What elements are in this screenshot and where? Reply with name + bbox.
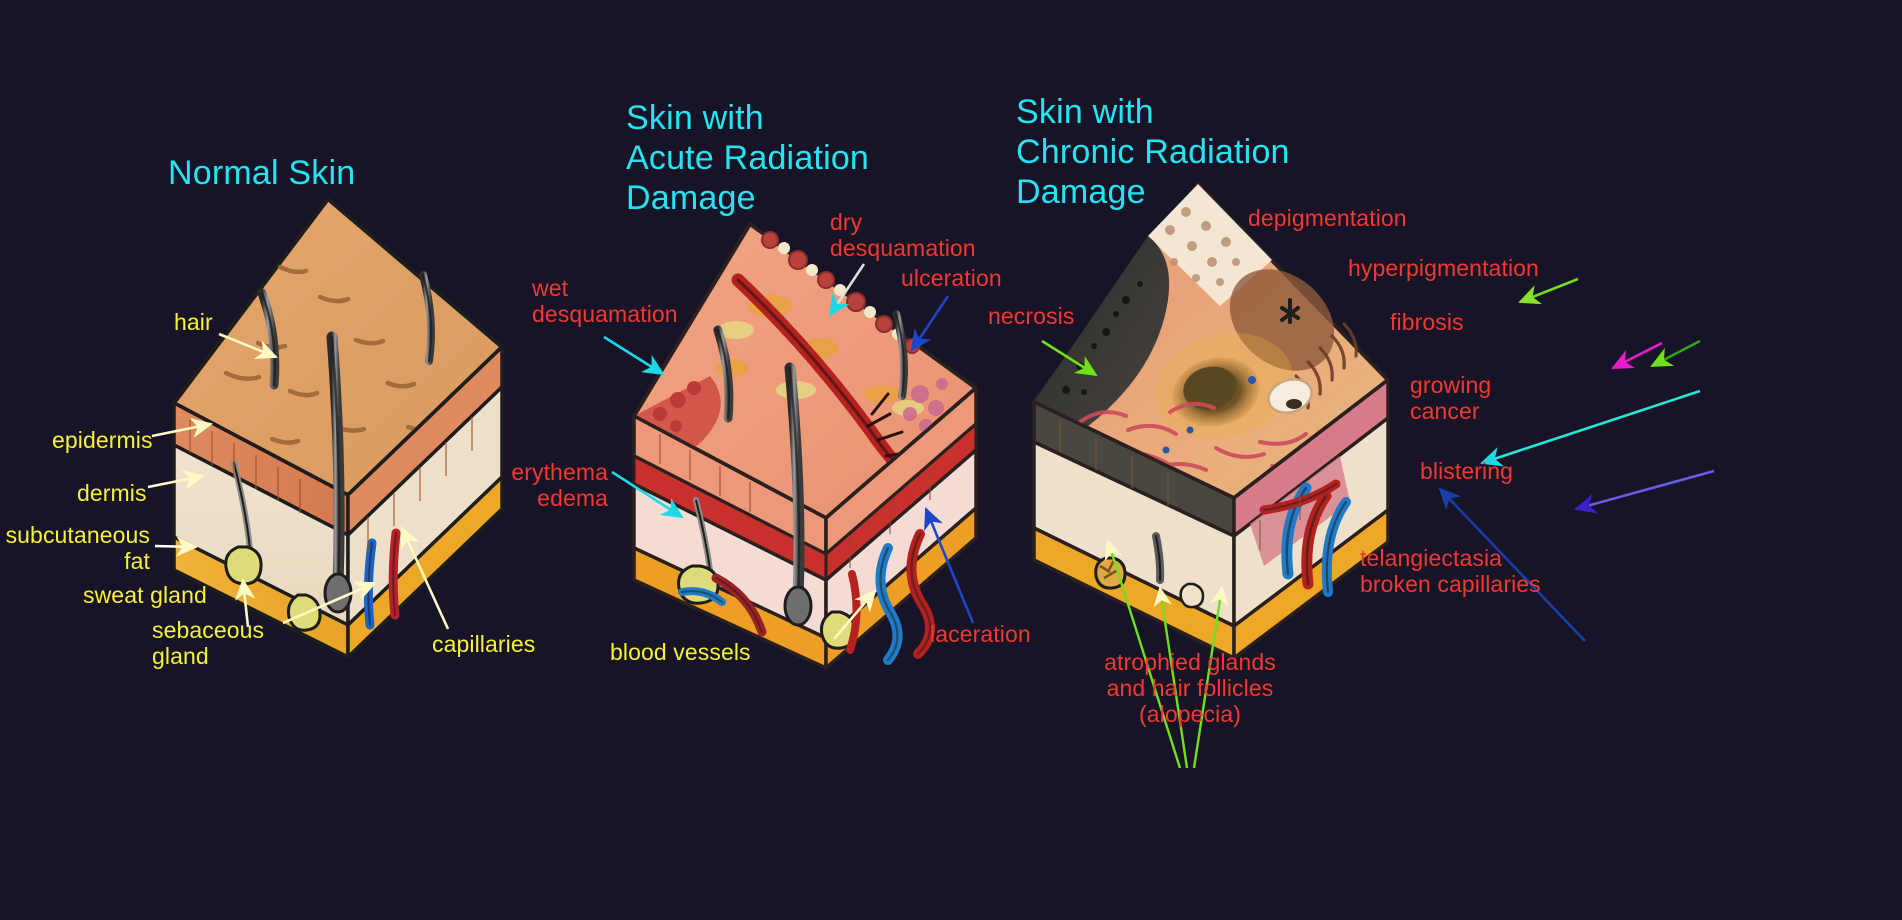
label-sebaceous-gland: sebaceous gland <box>152 618 264 670</box>
label-erythema-edema: erythema edema <box>470 460 608 512</box>
arrow-depigmentation <box>1520 279 1578 302</box>
arrow-blistering <box>1576 471 1714 509</box>
label-sweat-gland: sweat gland <box>83 583 207 609</box>
arrow-growing-cancer <box>1482 391 1700 463</box>
label-growing-cancer: growing cancer <box>1410 373 1491 425</box>
label-wet-desquamation: wet desquamation <box>532 276 678 328</box>
arrow-hyperpigmentation <box>1613 343 1662 368</box>
label-dry-desquamation: dry desquamation <box>830 210 976 262</box>
arrow-fibrosis <box>1652 341 1700 366</box>
label-epidermis: epidermis <box>52 428 153 454</box>
label-laceration: laceration <box>930 622 1031 648</box>
label-necrosis: necrosis <box>988 304 1074 330</box>
label-hyperpigmentation: hyperpigmentation <box>1348 256 1539 282</box>
panel-title-acute: Skin with Acute Radiation Damage <box>626 98 869 218</box>
label-dermis: dermis <box>77 481 147 507</box>
panel-title-chronic: Skin with Chronic Radiation Damage <box>1016 92 1290 212</box>
label-hair: hair <box>174 310 213 336</box>
label-ulceration: ulceration <box>901 266 1002 292</box>
diagram-canvas: Normal Skin Skin with Acute Radiation Da… <box>0 0 1902 920</box>
label-atrophied-glands: atrophied glands and hair follicles (alo… <box>1040 650 1340 727</box>
label-depigmentation: depigmentation <box>1248 206 1407 232</box>
label-capillaries: capillaries <box>432 632 535 658</box>
label-blistering: blistering <box>1420 459 1513 485</box>
label-fibrosis: fibrosis <box>1390 310 1464 336</box>
panel-title-normal-skin: Normal Skin <box>168 153 355 193</box>
normal-skin-illustration <box>150 195 530 685</box>
label-blood-vessels: blood vessels <box>610 640 751 666</box>
label-telangiectasia: telangiectasia broken capillaries <box>1360 546 1541 598</box>
label-subcutaneous-fat: subcutaneous fat <box>0 523 150 575</box>
